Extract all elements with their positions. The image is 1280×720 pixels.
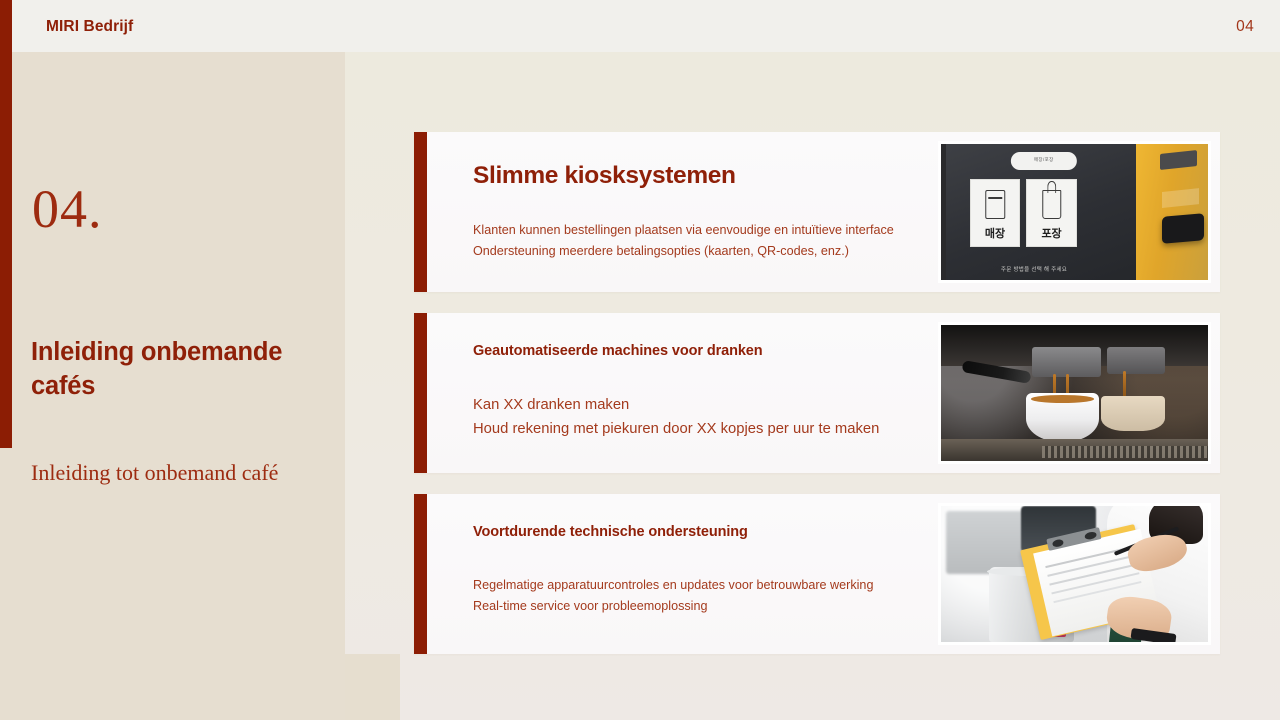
drip-grate [1042, 446, 1208, 458]
kiosk-pill-text: 매장/포장 [1011, 157, 1077, 163]
header-accent-bar [0, 0, 12, 52]
kiosk-tile-label: 매장 [971, 225, 1020, 241]
section-number: 04. [32, 182, 103, 236]
brand-title: MIRI Bedrijf [46, 18, 133, 36]
kiosk-tile-takeout: 포장 [1026, 179, 1077, 247]
portafilter-group-second [1107, 347, 1166, 374]
content-card[interactable]: Geautomatiseerde machines voor dranken K… [414, 313, 1220, 473]
shopping-bag-icon [1042, 190, 1061, 219]
card-image-frame [938, 322, 1211, 464]
kiosk-tile-label: 포장 [1027, 225, 1076, 241]
kiosk-footer-text: 주문 방법을 선택 해 주세요 [962, 265, 1106, 273]
kiosk-slot [1160, 150, 1197, 170]
sidebar: 04. Inleiding onbemande cafés Inleiding … [0, 52, 345, 720]
technician-inspection-clipboard-photo [941, 506, 1208, 642]
dine-in-icon [985, 190, 1004, 219]
kiosk-screen: 매장/포장 매장 포장 주문 방법을 선택 해 주세요 [946, 144, 1141, 280]
espresso-cup [1026, 393, 1098, 442]
sidebar-subtitle: Inleiding tot onbemand café [31, 459, 351, 488]
self-order-kiosk-touchscreen-photo: 매장/포장 매장 포장 주문 방법을 선택 해 주세요 [941, 144, 1208, 280]
kiosk-label-sticker [1162, 188, 1199, 208]
sidebar-title: Inleiding onbemande cafés [31, 335, 331, 403]
card-accent-bar [414, 313, 427, 473]
portafilter-group [1032, 347, 1101, 377]
page-number: 04 [1236, 18, 1254, 36]
card-image-frame: 매장/포장 매장 포장 주문 방법을 선택 해 주세요 [938, 141, 1211, 283]
sidebar-accent-bar [0, 52, 12, 448]
kiosk-card-reader [1162, 213, 1204, 244]
coffee-stream [1123, 371, 1126, 398]
header-bar: MIRI Bedrijf 04 [0, 0, 1280, 52]
card-accent-bar [414, 132, 427, 292]
content-card[interactable]: Slimme kiosksystemen Klanten kunnen best… [414, 132, 1220, 292]
card-list: Slimme kiosksystemen Klanten kunnen best… [414, 132, 1220, 675]
card-accent-bar [414, 494, 427, 654]
secondary-cup [1101, 396, 1165, 431]
kiosk-pill-badge: 매장/포장 [1011, 152, 1077, 170]
kiosk-tile-dine-in: 매장 [970, 179, 1021, 247]
content-card[interactable]: Voortdurende technische ondersteuning Re… [414, 494, 1220, 654]
slide: 04. Inleiding onbemande cafés Inleiding … [0, 0, 1280, 720]
kiosk-body-panel [1136, 144, 1208, 280]
espresso-machine-photo [941, 325, 1208, 461]
card-image-frame [938, 503, 1211, 645]
